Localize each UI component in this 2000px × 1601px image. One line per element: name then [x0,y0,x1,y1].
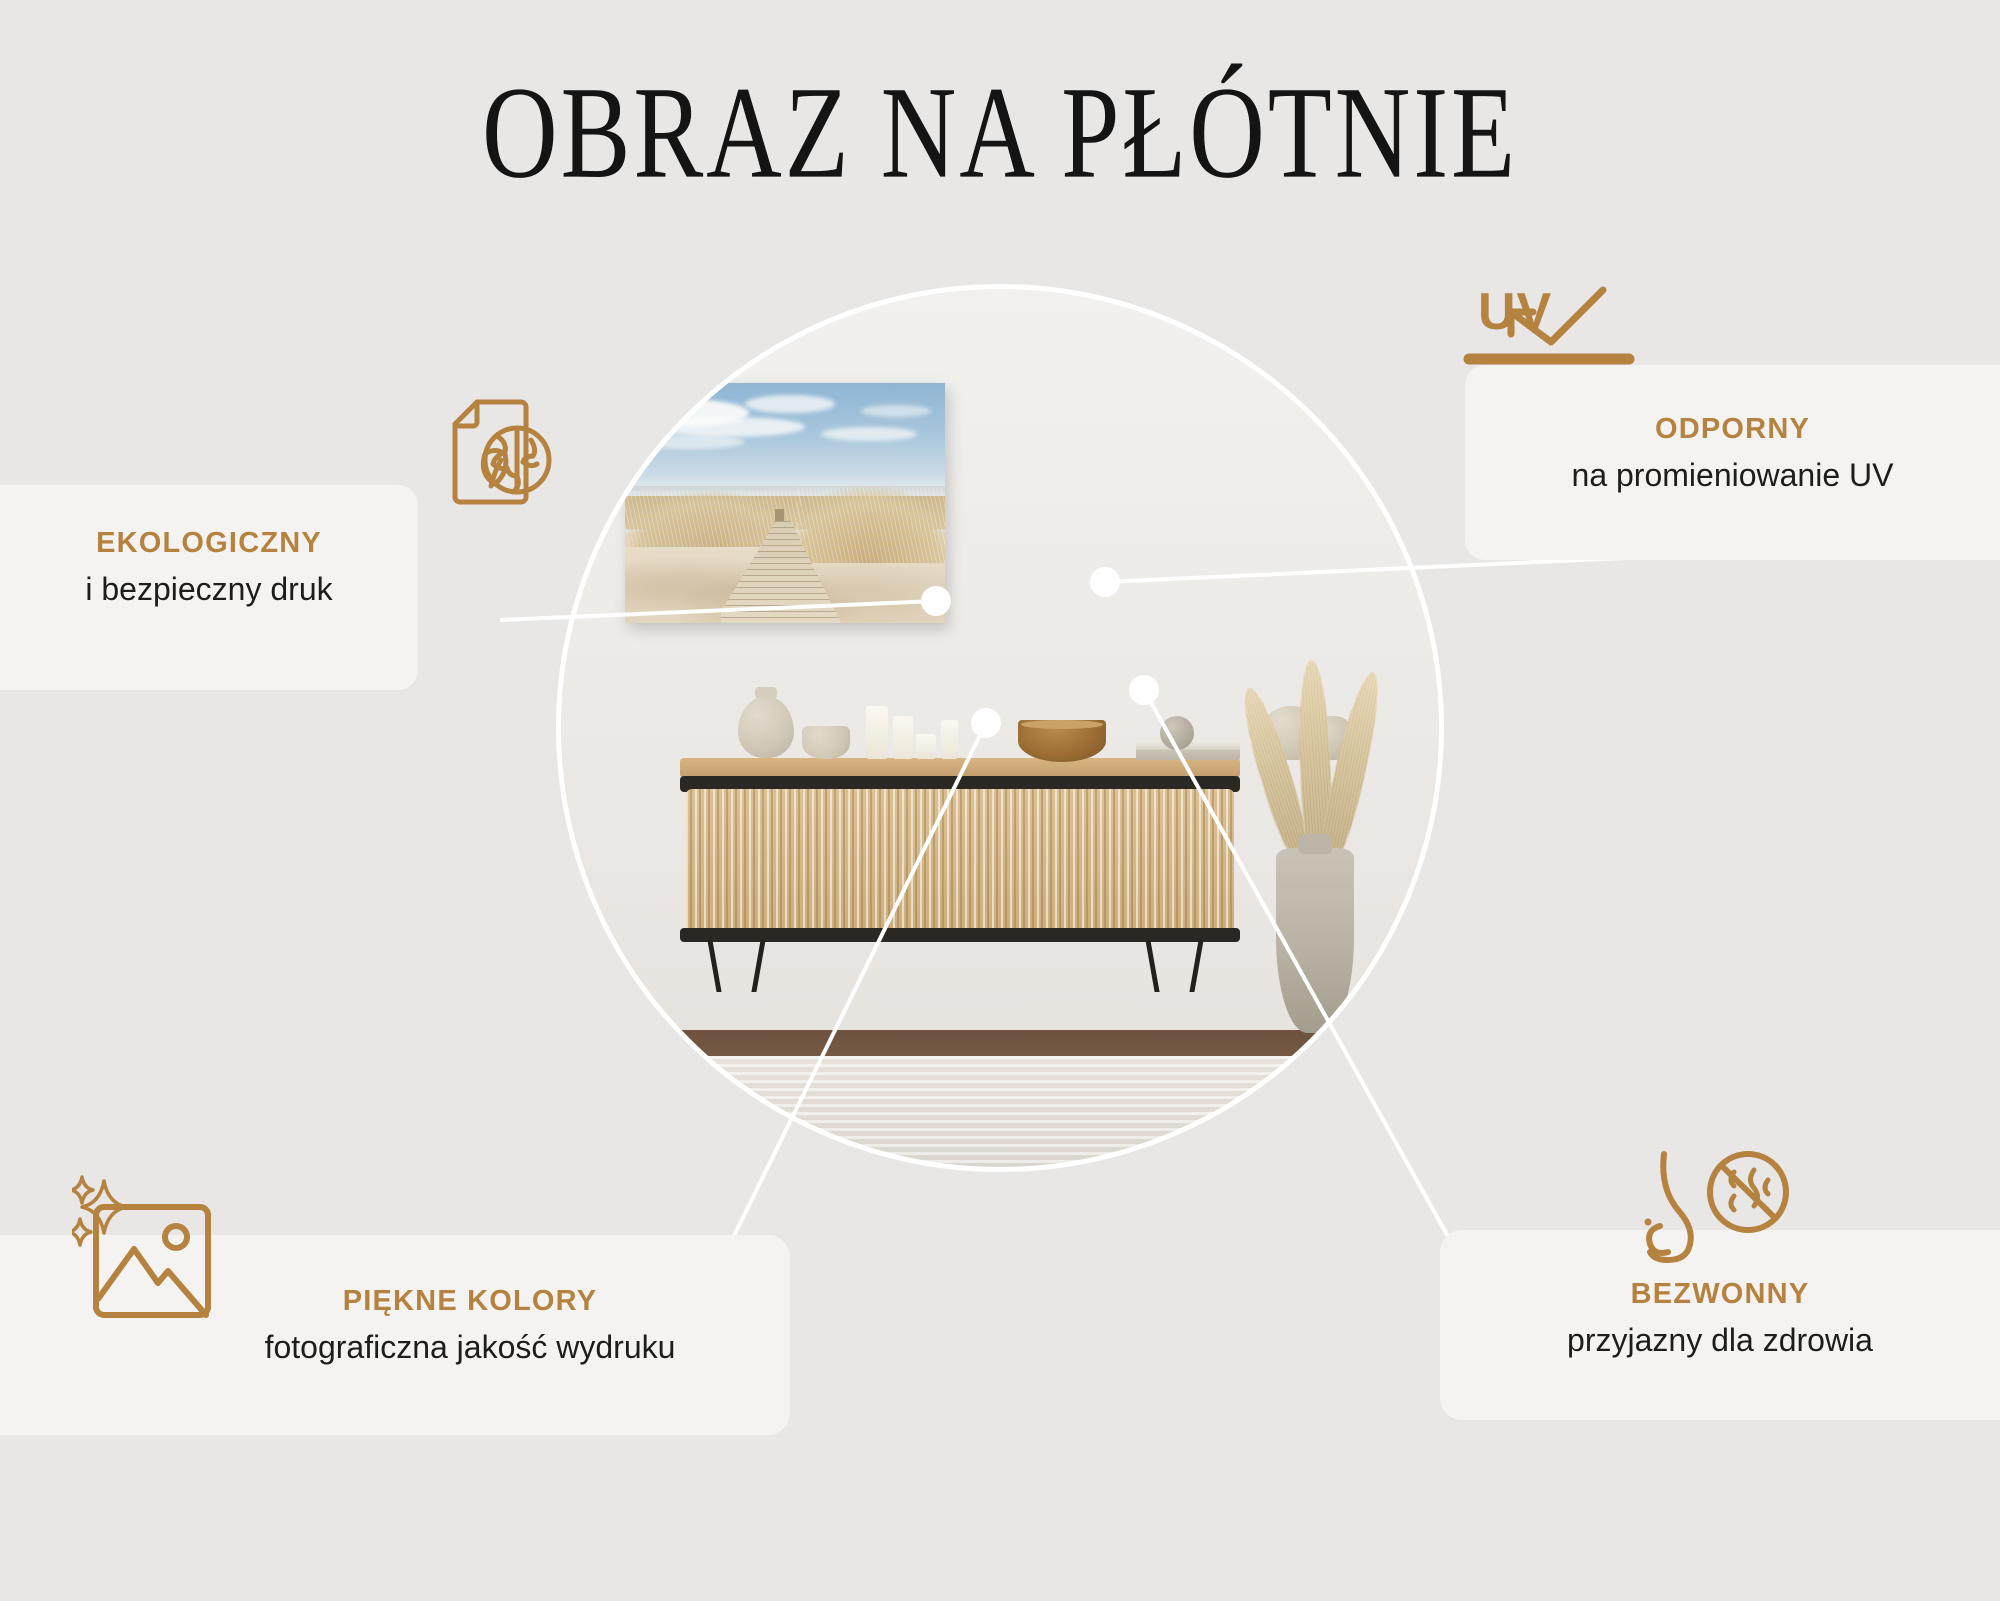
cloud [821,427,917,441]
dune-grass-right [797,487,945,563]
sideboard-fluted-front [686,789,1234,933]
canvas-print-artwork [625,383,945,623]
sideboard [680,758,1240,963]
uv-label: UV [1478,282,1552,342]
cloud [635,435,745,449]
feature-kicker-eco: EKOLOGICZNY [0,529,418,558]
feature-sub-colors: fotograficzna jakość wydruku [180,1329,760,1366]
pillar-candle [893,716,913,759]
pillar-candle [941,720,958,759]
stone-sphere [1160,716,1194,750]
photo-sparkle-icon [72,1175,227,1320]
cloud [655,417,805,437]
sideboard-top [680,758,1240,778]
page-title: OBRAZ NA PŁÓTNIE [30,68,1970,200]
ceramic-bowl [802,726,850,759]
floor-vase [1276,848,1354,1033]
brass-bowl [1018,720,1106,762]
ceramic-vase [738,696,794,758]
room-scene [560,288,1440,1168]
infographic-stage: OBRAZ NA PŁÓTNIE [0,0,2000,1601]
area-rug [620,1056,1440,1168]
eco-document-globe-leaf-icon [425,392,565,522]
feature-sub-odor: przyjazny dla zdrowia [1440,1322,2000,1359]
pillar-candle [916,734,936,759]
cloud [861,405,931,417]
pillar-candle [866,706,888,759]
feature-card-eco[interactable]: EKOLOGICZNY i bezpieczny druk [0,485,418,690]
nose-no-smell-icon [1636,1148,1796,1288]
feature-kicker-uv: ODPORNY [1465,415,2000,444]
feature-sub-eco: i bezpieczny druk [0,571,418,608]
cloud [745,395,835,413]
feature-kicker-colors: PIĘKNE KOLORY [180,1287,760,1316]
feature-sub-uv: na promieniowanie UV [1465,457,2000,494]
